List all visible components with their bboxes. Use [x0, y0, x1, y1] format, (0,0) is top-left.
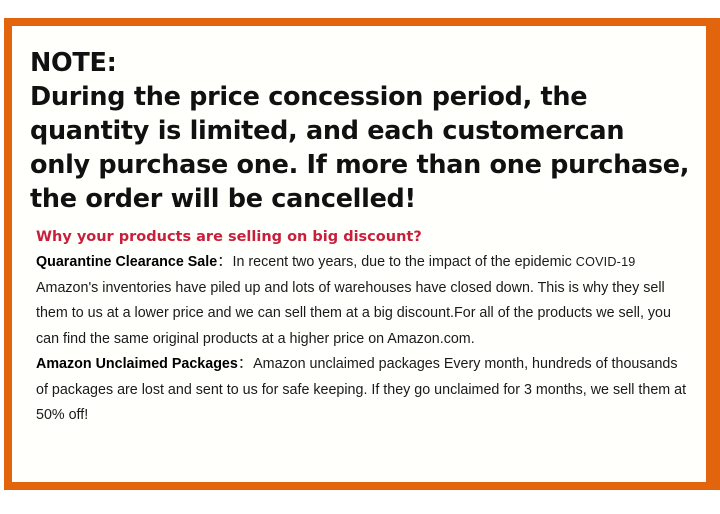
note-sub-heading: Why your products are selling on big dis…: [36, 226, 690, 248]
section-body-rest: Amazon's inventories have piled up and l…: [36, 280, 671, 347]
note-content: NOTE: During the price concession period…: [12, 26, 706, 482]
note-body: Quarantine Clearance Sale：In recent two …: [36, 250, 690, 429]
section-term-label: Quarantine Clearance Sale: [36, 254, 217, 270]
section-separator: ：: [217, 254, 232, 270]
note-frame: NOTE: During the price concession period…: [4, 18, 720, 490]
section-term-label: Amazon Unclaimed Packages: [36, 356, 238, 372]
section-amazon-unclaimed-packages: Amazon Unclaimed Packages：Amazon unclaim…: [36, 352, 690, 429]
section-quarantine-clearance-sale: Quarantine Clearance Sale：In recent two …: [36, 250, 690, 352]
note-headline: NOTE: During the price concession period…: [30, 46, 690, 216]
section-body-lead: In recent two years, due to the impact o…: [232, 254, 575, 270]
covid-19-label: COVID-19: [576, 255, 636, 269]
page-canvas: NOTE: During the price concession period…: [0, 0, 720, 514]
section-separator: ：: [238, 356, 253, 372]
